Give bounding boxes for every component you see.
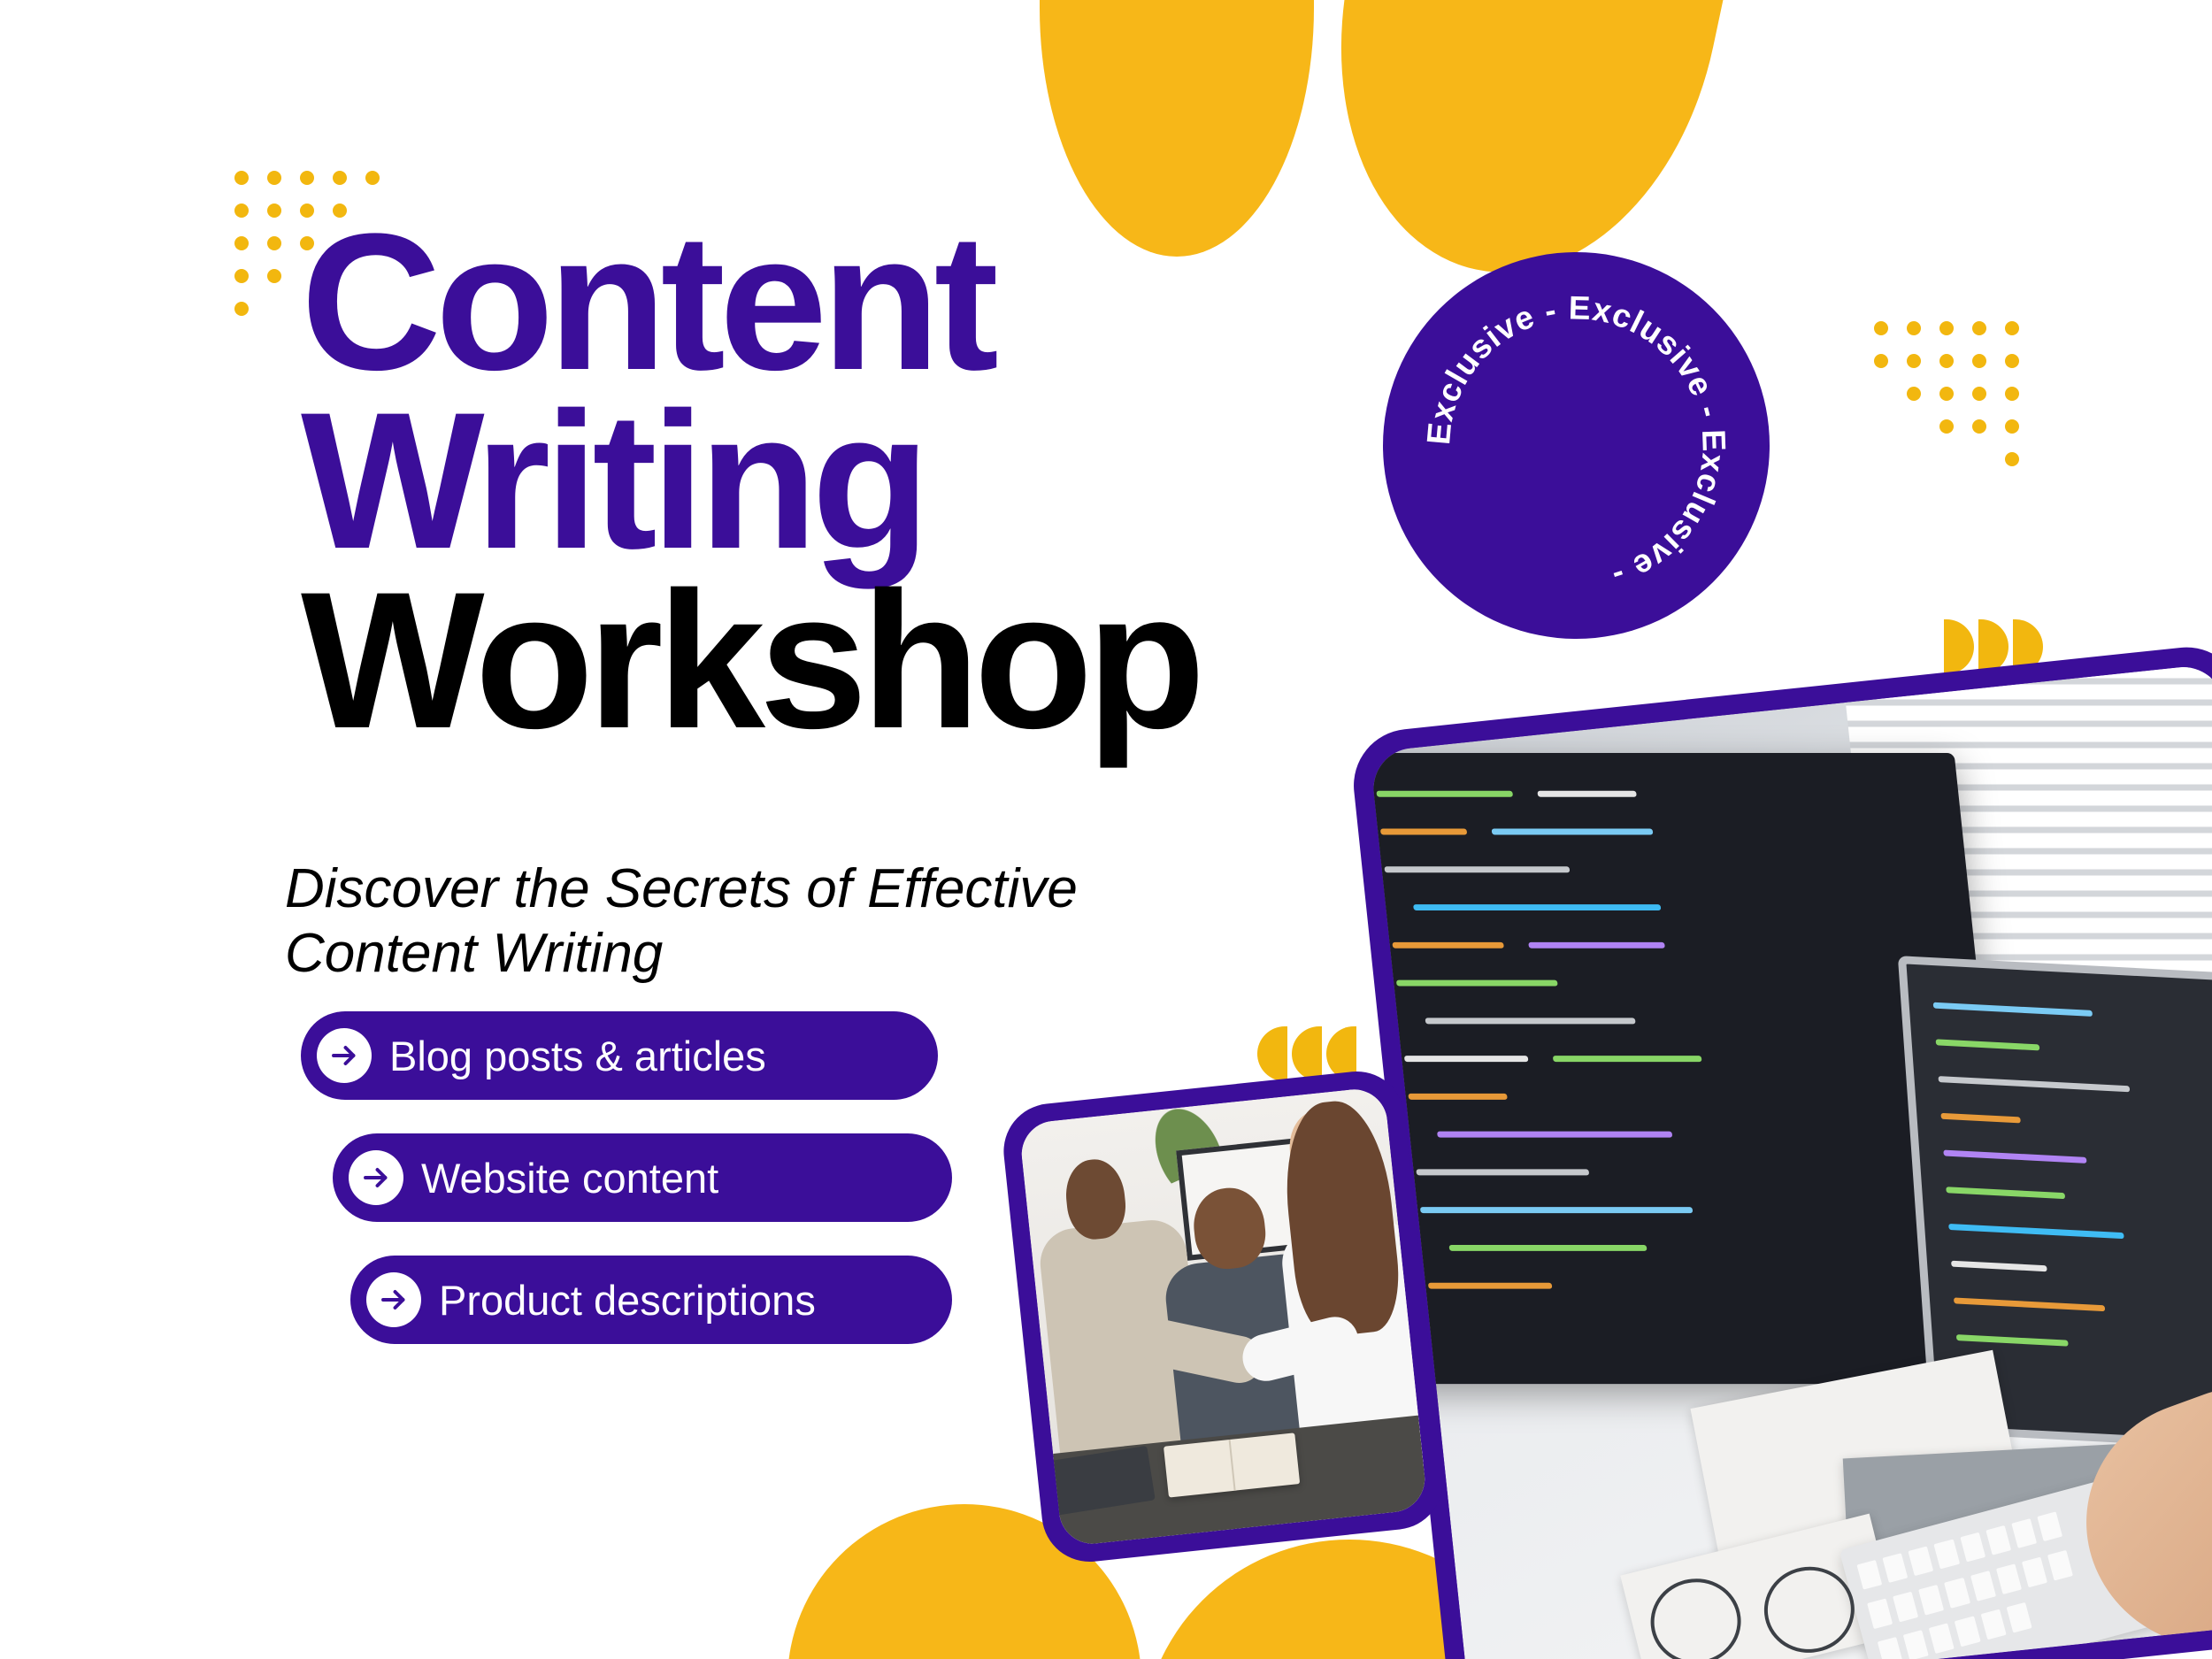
desk-scene: [1370, 663, 2212, 1659]
exclusive-badge-svg: Exclusive - Exclusive - Exclusive -: [1383, 252, 1770, 639]
dot: [2005, 419, 2019, 434]
exclusive-badge-text: Exclusive - Exclusive - Exclusive -: [1420, 289, 1732, 595]
team-scene: [1018, 1087, 1428, 1548]
topic-pill-label: Blog posts & articles: [389, 1032, 766, 1080]
quote-mark-icon: [1944, 619, 1974, 674]
dot: [234, 236, 249, 250]
topic-pill-label: Website content: [421, 1154, 718, 1202]
dot: [234, 204, 249, 218]
dot: [1939, 387, 1954, 401]
dot: [1907, 354, 1921, 368]
dot: [234, 171, 249, 185]
dot: [1939, 321, 1954, 335]
dot: [1972, 419, 1986, 434]
dot: [1874, 321, 1888, 335]
topic-pill-label: Product descriptions: [439, 1276, 816, 1325]
dot: [1939, 419, 1954, 434]
team-photo-image: [1018, 1087, 1428, 1548]
dot: [1939, 354, 1954, 368]
dot: [267, 204, 281, 218]
dot: [234, 269, 249, 283]
dot: [300, 171, 314, 185]
title-line-one: Content: [301, 212, 1425, 391]
dot: [1907, 321, 1921, 335]
dot: [365, 171, 380, 185]
title-line-two: Writing: [301, 391, 1425, 570]
subtitle: Discover the Secrets of Effective Conten…: [285, 856, 1223, 986]
dot: [1972, 387, 1986, 401]
dot: [234, 302, 249, 316]
workstation-photo: [1348, 641, 2212, 1659]
dot: [2005, 452, 2019, 466]
dot: [333, 171, 347, 185]
dot-pattern-right: [1855, 311, 2019, 475]
dot: [1972, 321, 1986, 335]
poster-canvas: Exclusive - Exclusive - Exclusive - Cont…: [0, 0, 2212, 1659]
quote-mark-icon: [1257, 1026, 1287, 1081]
dot: [1874, 354, 1888, 368]
team-photo: [999, 1067, 1448, 1567]
arrow-right-icon: [366, 1272, 421, 1327]
dot: [267, 236, 281, 250]
topic-pill-blog-posts[interactable]: Blog posts & articles: [301, 1011, 938, 1100]
page-title: Content Writing Workshop: [301, 212, 1425, 749]
quote-mark-icon: [1292, 1026, 1322, 1081]
topic-list: Blog posts & articles Website content Pr…: [301, 1011, 952, 1378]
topic-pill-product-descriptions[interactable]: Product descriptions: [350, 1256, 952, 1344]
dot: [2005, 321, 2019, 335]
arrow-right-icon: [317, 1028, 372, 1083]
dot: [267, 171, 281, 185]
exclusive-badge: Exclusive - Exclusive - Exclusive -: [1383, 252, 1770, 639]
exclusive-badge-textpath: Exclusive - Exclusive - Exclusive -: [1420, 289, 1732, 595]
workstation-photo-image: [1370, 663, 2212, 1659]
dot: [267, 269, 281, 283]
title-line-three: Workshop: [301, 571, 1425, 749]
arrow-right-icon: [349, 1150, 403, 1205]
dot: [2005, 387, 2019, 401]
dot: [1907, 387, 1921, 401]
dot: [1972, 354, 1986, 368]
dot: [2005, 354, 2019, 368]
topic-pill-website-content[interactable]: Website content: [333, 1133, 952, 1222]
